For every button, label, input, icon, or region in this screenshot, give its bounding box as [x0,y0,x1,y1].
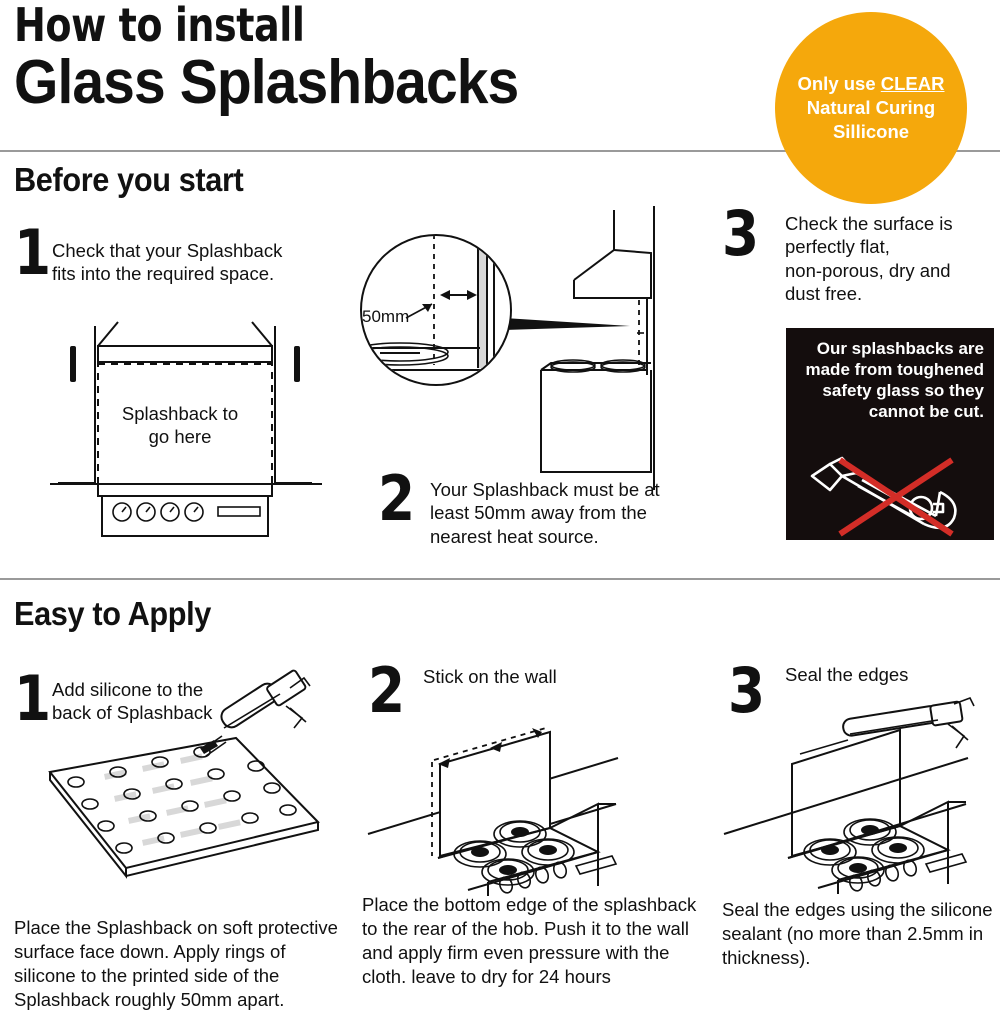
step-text-apply-2: Stick on the wall [423,665,673,688]
caption-apply-1: Place the Splashback on soft protective … [14,916,344,1012]
page-title-line1: How to install [14,2,304,48]
step-text-apply-3-value: Seal the edges [785,664,908,685]
page-title-line2: Glass Splashbacks [14,52,518,114]
section-heading-before-you-start: Before you start [14,163,243,196]
poster-page: How to install Glass Splashbacks Only us… [0,0,1000,1000]
illustration-hood-clearance: 50mm [358,200,688,490]
clear-silicone-badge: Only use CLEAR Natural Curing Sillicone [775,12,967,204]
warning-box-text: Our splashbacks are made from toughened … [796,338,984,422]
step-text-apply-2-value: Stick on the wall [423,666,557,687]
diagram-label-splashback-here: Splashback to go here [85,402,275,449]
step-text-before-3: Check the surface is perfectly flat, non… [785,212,1000,306]
illustration-seal-edges [716,686,1000,876]
step-text-before-1-value: Check that your Splashback fits into the… [52,240,282,284]
diagram-label-splashback-here-value: Splashback to go here [122,403,238,447]
illustration-stick-on-wall [360,686,710,876]
magnifier-label-50mm: 50mm [362,307,409,326]
step-number-before-2: 2 [378,468,415,530]
step-text-apply-3: Seal the edges [785,663,995,686]
caulking-gun-icon-2 [800,698,974,754]
step-number-before-3: 3 [722,203,759,265]
caption-apply-3: Seal the edges using the silicone sealan… [722,898,1000,970]
badge-line1-underlined: CLEAR [881,73,945,94]
badge-line3: Sillicone [833,121,909,142]
step-text-before-2-value: Your Splashback must be at least 50mm aw… [430,479,660,547]
step-text-before-3-value: Check the surface is perfectly flat, non… [785,213,953,304]
warning-box-cannot-be-cut: Our splashbacks are made from toughened … [786,328,994,540]
section-heading-easy-to-apply: Easy to Apply [14,597,211,630]
step-text-before-1: Check that your Splashback fits into the… [52,239,312,286]
step-text-before-2: Your Splashback must be at least 50mm aw… [430,478,690,548]
caption-apply-2: Place the bottom edge of the splashback … [362,893,702,989]
step-number-before-1: 1 [14,222,51,284]
illustration-silicone-rings [18,700,338,900]
badge-line1-pre: Only use [797,73,880,94]
no-cutting-icon [800,446,980,538]
divider-middle [0,578,1000,580]
badge-line2: Natural Curing [807,97,935,118]
badge-text: Only use CLEAR Natural Curing Sillicone [791,72,950,143]
